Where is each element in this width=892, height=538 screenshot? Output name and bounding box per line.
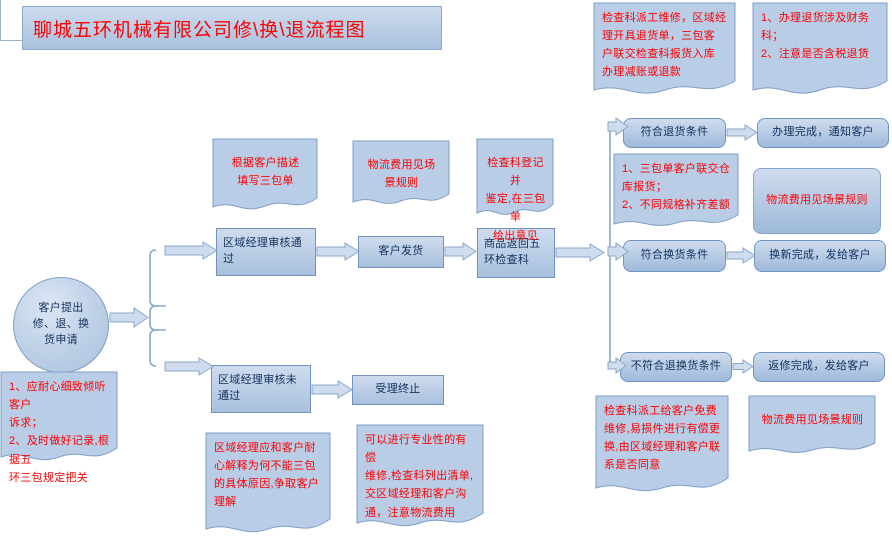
connector-to-cond-return bbox=[608, 118, 630, 136]
connector-cond-none-to-result bbox=[733, 360, 755, 374]
note-dispatch-repair-text: 检查科派工维修，区域经 理开具退货单，三包客 户联交检查科报货入库 办理减账或退… bbox=[593, 2, 736, 98]
connector-approve-fail-to-stop bbox=[312, 381, 354, 399]
connector-cond-exchange-to-result bbox=[727, 248, 757, 264]
connector-split-to-approve-fail bbox=[165, 358, 215, 376]
node-result-repair[interactable]: 返修完成，发给客户 bbox=[753, 352, 885, 382]
node-cond-return-label: 符合退货条件 bbox=[630, 125, 719, 141]
node-approve-fail[interactable]: 区域经理审核未 通过 bbox=[211, 365, 311, 413]
start-node[interactable]: 客户提出 修、退、换 货申请 bbox=[13, 277, 109, 373]
connector-cond-return-to-result bbox=[727, 125, 759, 141]
connector-inspection-to-split bbox=[556, 244, 606, 262]
note-logistics-rule-2: 物流费用见场景规则 bbox=[753, 168, 881, 234]
node-approve-pass-label: 区域经理审核通 过 bbox=[223, 236, 309, 268]
note-fill-form: 根据客户描述 填写三包单 bbox=[212, 138, 318, 214]
node-cond-return[interactable]: 符合退货条件 bbox=[623, 118, 726, 148]
note-listen-customer: 1、应耐心细致倾听客户 诉求； 2、及时做好记录,根据五 环三包规定把关 bbox=[0, 371, 118, 465]
node-cond-none-label: 不符合退换货条件 bbox=[627, 359, 725, 375]
note-logistics-rule-2-text: 物流费用见场景规则 bbox=[760, 193, 874, 209]
start-node-label: 客户提出 修、退、换 货申请 bbox=[20, 301, 102, 349]
flowchart-canvas: 聊城五环机械有限公司修\换\退流程图 检查科派工维修，区域经 理开具退货单，三包… bbox=[0, 0, 892, 538]
note-finance: 1、办理退货涉及财务 科； 2、注意是否含税退货 bbox=[752, 2, 888, 98]
node-result-return[interactable]: 办理完成，通知客户 bbox=[757, 118, 889, 148]
node-customer-ship-label: 客户发货 bbox=[365, 244, 437, 260]
node-cond-exchange-label: 符合换货条件 bbox=[630, 248, 719, 264]
note-finance-text: 1、办理退货涉及财务 科； 2、注意是否含税退货 bbox=[752, 2, 888, 98]
node-approve-pass[interactable]: 区域经理审核通 过 bbox=[216, 228, 316, 276]
connector-split-trunk-left bbox=[146, 240, 168, 376]
note-logistics-rule-3-text: 物流费用见场景规则 bbox=[748, 395, 876, 457]
note-manager-explain-text: 区域经理应和客户耐 心解释为何不能三包 的具体原因,争取客户 理解 bbox=[205, 432, 331, 538]
note-listen-customer-text: 1、应耐心细致倾听客户 诉求； 2、及时做好记录,根据五 环三包规定把关 bbox=[0, 371, 118, 465]
note-logistics-rule-1: 物流费用见场 景规则 bbox=[352, 140, 450, 208]
connector-start-to-split bbox=[110, 308, 150, 328]
note-logistics-rule-3: 物流费用见场景规则 bbox=[748, 395, 876, 457]
node-result-exchange-label: 换新完成，发给客户 bbox=[761, 248, 879, 264]
node-approve-fail-label: 区域经理审核未 通过 bbox=[218, 373, 304, 405]
chart-title: 聊城五环机械有限公司修\换\退流程图 bbox=[22, 6, 442, 50]
node-customer-ship[interactable]: 客户发货 bbox=[358, 236, 444, 268]
note-logistics-rule-1-text: 物流费用见场 景规则 bbox=[352, 140, 450, 208]
connector-to-cond-none bbox=[608, 358, 628, 374]
note-dispatch-repair: 检查科派工维修，区域经 理开具退货单，三包客 户联交检查科报货入库 办理减账或退… bbox=[593, 2, 736, 98]
note-exchange-detail: 1、三包单客户联交仓 库报货； 2、不同规格补齐差额 bbox=[613, 153, 739, 231]
note-paid-repair: 可以进行专业性的有偿 维修,检查科列出清单, 交区域经理和客户沟 通，注意物流费… bbox=[356, 424, 484, 532]
note-fill-form-text: 根据客户描述 填写三包单 bbox=[212, 138, 318, 214]
node-handling-stop-label: 受理终止 bbox=[359, 382, 437, 398]
node-result-repair-label: 返修完成，发给客户 bbox=[760, 359, 878, 375]
connector-to-cond-exchange bbox=[608, 243, 630, 261]
node-result-exchange[interactable]: 换新完成，发给客户 bbox=[754, 240, 886, 272]
node-handling-stop[interactable]: 受理终止 bbox=[352, 375, 444, 405]
node-result-return-label: 办理完成，通知客户 bbox=[764, 125, 882, 141]
connector-split-to-approve-pass bbox=[165, 242, 219, 260]
note-manager-explain: 区域经理应和客户耐 心解释为何不能三包 的具体原因,争取客户 理解 bbox=[205, 432, 331, 538]
note-inspection-register-text: 检查科登记并 鉴定,在三包单 给出意见 bbox=[476, 138, 554, 220]
note-free-repair: 检查科派工给客户免费 维修,易损件进行有偿更 换,由区域经理和客户联 系是否同意 bbox=[595, 395, 729, 497]
chart-title-text: 聊城五环机械有限公司修\换\退流程图 bbox=[33, 15, 366, 42]
node-cond-exchange[interactable]: 符合换货条件 bbox=[623, 240, 726, 272]
note-paid-repair-text: 可以进行专业性的有偿 维修,检查科列出清单, 交区域经理和客户沟 通，注意物流费… bbox=[356, 424, 484, 532]
note-inspection-register: 检查科登记并 鉴定,在三包单 给出意见 bbox=[476, 138, 554, 220]
connector-approve-pass-to-ship bbox=[317, 243, 361, 261]
note-exchange-detail-text: 1、三包单客户联交仓 库报货； 2、不同规格补齐差额 bbox=[613, 153, 739, 231]
note-free-repair-text: 检查科派工给客户免费 维修,易损件进行有偿更 换,由区域经理和客户联 系是否同意 bbox=[595, 395, 729, 497]
connector-ship-to-inspection bbox=[445, 243, 478, 261]
node-cond-none[interactable]: 不符合退换货条件 bbox=[620, 352, 732, 382]
